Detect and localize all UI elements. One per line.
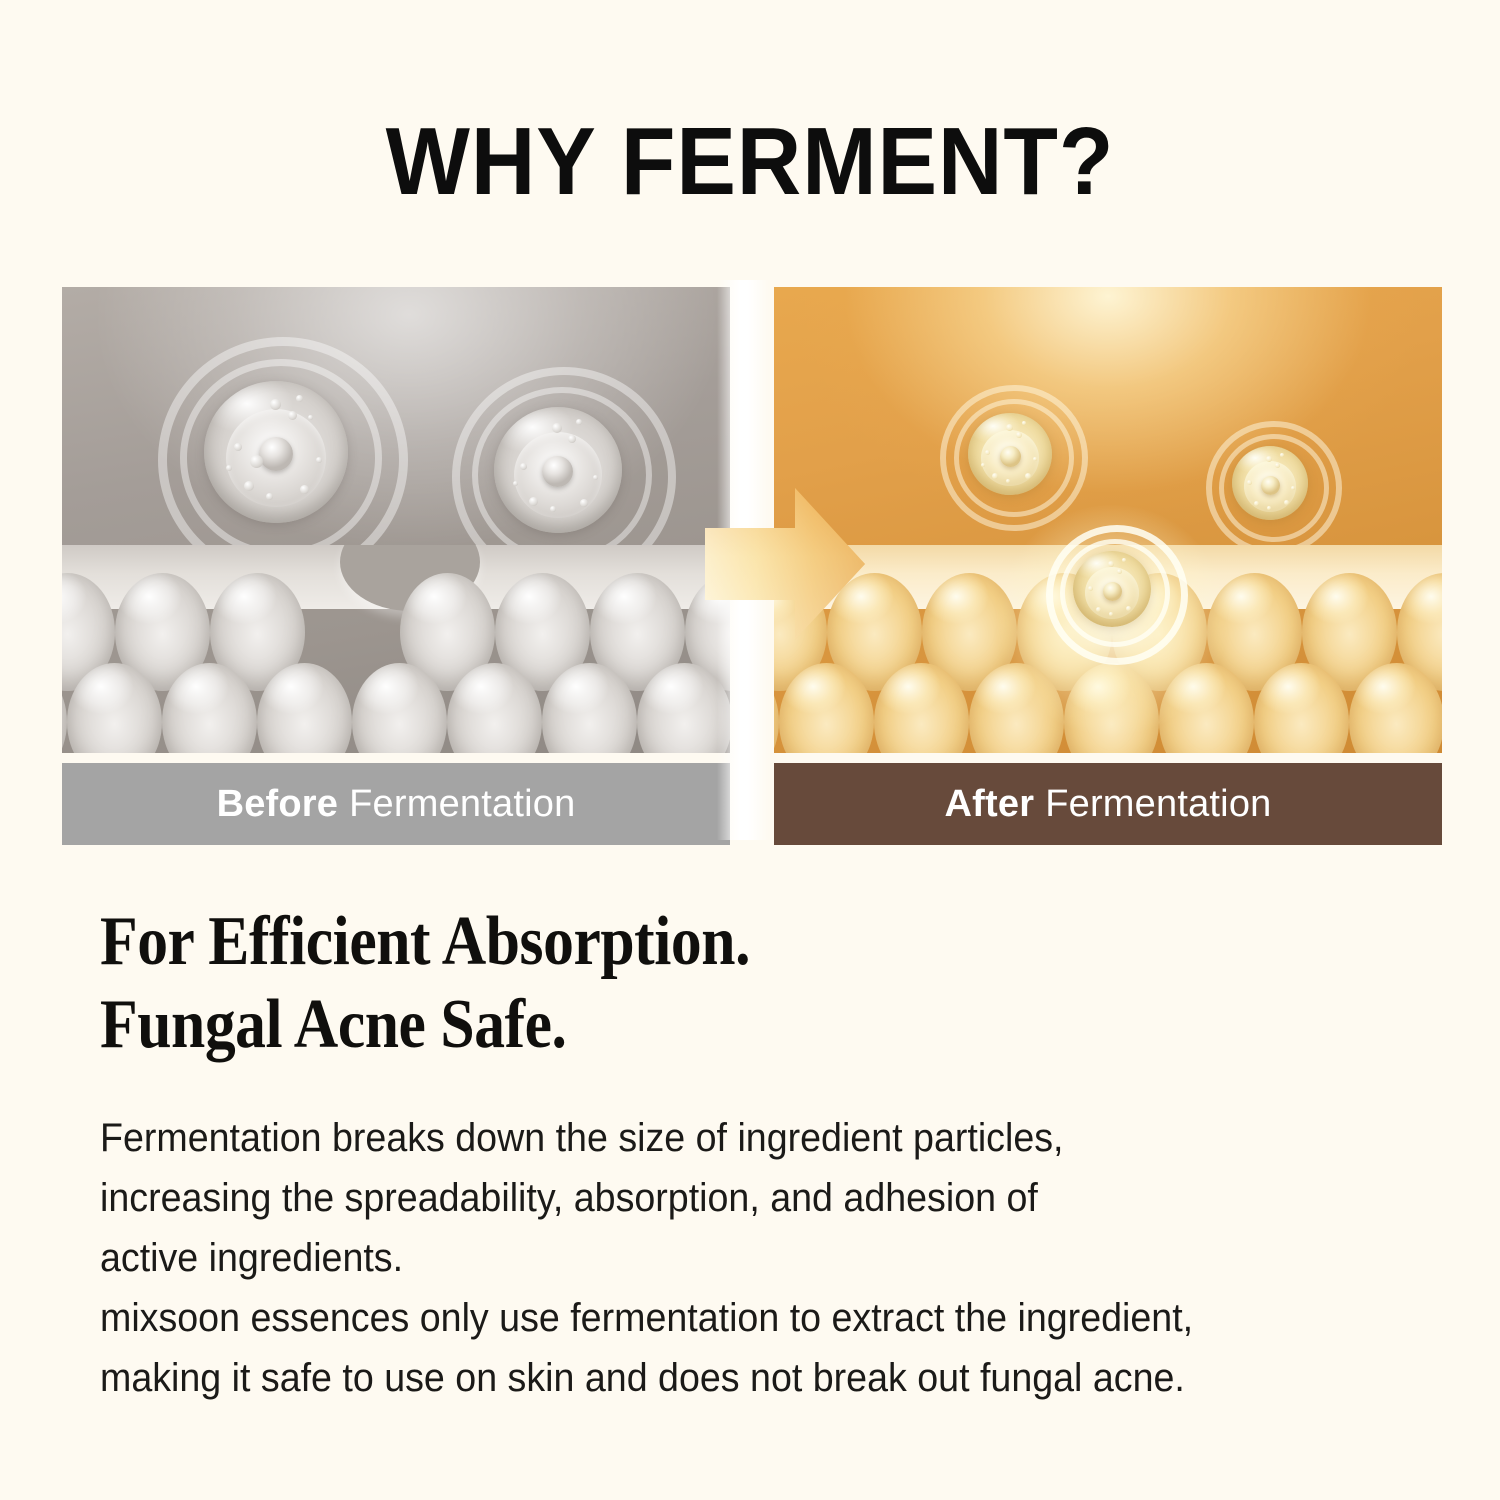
molecule-bubble: [296, 395, 303, 402]
arrow-right-icon: [699, 480, 871, 648]
molecule-bubble: [266, 493, 273, 500]
molecule-bubble: [1117, 569, 1122, 574]
molecule-bubble: [1247, 480, 1252, 485]
molecule-small-gold-1: [940, 383, 1080, 523]
molecule-bubble: [1108, 561, 1114, 567]
molecule-bubble: [985, 450, 990, 455]
molecule-bubble: [250, 455, 263, 468]
body-p2-line-1: mixsoon essences only use fermentation t…: [100, 1288, 1350, 1348]
body-p1-line-2: increasing the spreadability, absorption…: [100, 1168, 1350, 1228]
molecule-bubble: [244, 481, 254, 491]
molecule-bubble: [981, 463, 985, 467]
body-p1-line-3: active ingredients.: [100, 1228, 1350, 1288]
molecule-bubble: [1275, 463, 1280, 468]
molecule-bubble: [1291, 486, 1295, 490]
after-illustration: [774, 287, 1442, 753]
page-title: WHY FERMENT?: [53, 112, 1448, 213]
pearl-cell: [542, 663, 637, 753]
molecule-bubble: [550, 506, 556, 512]
body-p1-line-1: Fermentation breaks down the size of ing…: [100, 1108, 1350, 1168]
pearl-cell: [162, 663, 257, 753]
pearl-cell: [1349, 663, 1442, 753]
pearl-cell: [774, 663, 779, 753]
molecule-bubble: [568, 435, 576, 443]
molecule-small-gold-2: [1206, 419, 1334, 547]
pearl-cell: [1064, 663, 1159, 753]
molecule-bubble: [1280, 453, 1284, 457]
caption-after-rest: Fermentation: [1045, 783, 1271, 826]
molecule-nucleus: [259, 437, 293, 471]
section-headline: For Efficient Absorption. Fungal Acne Sa…: [100, 900, 1244, 1067]
molecule-core: [1232, 446, 1308, 520]
panel-after-fermentation: After Fermentation: [774, 287, 1442, 845]
molecule-nucleus: [1000, 446, 1021, 467]
molecule-bubble: [1109, 612, 1113, 616]
molecule-bubble: [520, 463, 527, 470]
molecule-core: [1073, 551, 1151, 627]
molecule-nucleus: [1261, 476, 1280, 495]
molecule-bubble: [593, 475, 598, 480]
molecule-bubble: [1006, 424, 1013, 431]
molecule-bubble: [552, 423, 562, 433]
pearl-cell: [969, 663, 1064, 753]
molecule-bubble: [270, 399, 281, 410]
pearl-cell: [257, 663, 352, 753]
pearl-cell: [1159, 663, 1254, 753]
pearl-cell: [352, 663, 447, 753]
molecule-bubble: [1126, 606, 1131, 611]
headline-line-2: Fungal Acne Safe.: [100, 983, 1244, 1066]
skin-layer-before: [62, 545, 730, 753]
before-after-comparison: Before Fermentation: [62, 287, 1442, 845]
molecule-bubble: [580, 499, 588, 507]
caption-after-emphasis: After: [945, 783, 1035, 826]
panel-before-fermentation: Before Fermentation: [62, 287, 730, 845]
molecule-bubble: [1284, 500, 1289, 505]
caption-before-rest: Fermentation: [349, 783, 575, 826]
molecule-core: [204, 381, 348, 523]
molecule-bubble: [288, 411, 297, 420]
headline-line-1: For Efficient Absorption.: [100, 900, 1244, 983]
molecule-bubble: [1033, 457, 1037, 461]
molecule-nucleus: [1103, 582, 1122, 601]
molecule-bubble: [234, 443, 242, 451]
pearl-cell: [874, 663, 969, 753]
molecule-bubble: [1122, 558, 1126, 562]
molecule-bubble: [1267, 506, 1271, 510]
pearl-row-bottom: [774, 663, 1442, 753]
molecule-bubble: [226, 465, 232, 471]
body-paragraph-1: Fermentation breaks down the size of ing…: [100, 1108, 1350, 1288]
body-paragraph-2: mixsoon essences only use fermentation t…: [100, 1288, 1350, 1408]
molecule-large-gray-2: [452, 363, 664, 575]
section-body-copy: Fermentation breaks down the size of ing…: [100, 1108, 1350, 1408]
pearl-cell: [1254, 663, 1349, 753]
molecule-bubble: [1025, 473, 1031, 479]
pearl-cell: [62, 663, 67, 753]
pearl-row-bottom: [62, 663, 730, 753]
molecule-bubble: [1254, 501, 1259, 506]
pearl-cell: [779, 663, 874, 753]
caption-before-emphasis: Before: [217, 783, 339, 826]
molecule-bubble: [1006, 479, 1010, 483]
molecule-large-gray-1: [158, 333, 394, 569]
molecule-nucleus: [542, 456, 573, 487]
molecule-bubble: [1022, 421, 1026, 425]
molecule-bubble: [1266, 456, 1272, 462]
molecule-core: [968, 413, 1052, 495]
molecule-bubble: [1096, 607, 1101, 612]
pearl-cell: [447, 663, 542, 753]
molecule-core: [494, 407, 622, 533]
molecule-bubble: [529, 497, 538, 506]
before-illustration: [62, 287, 730, 753]
molecule-bubble: [513, 481, 518, 486]
body-p2-line-2: making it safe to use on skin and does n…: [100, 1348, 1350, 1408]
molecule-bubble: [1016, 432, 1022, 438]
molecule-bubble: [576, 419, 582, 425]
transition-arrow: [699, 480, 871, 648]
molecule-bubble: [316, 457, 322, 463]
molecule-bubble: [1088, 586, 1093, 591]
molecule-bubble: [992, 473, 998, 479]
caption-before: Before Fermentation: [62, 763, 730, 845]
molecule-bubble: [308, 415, 313, 420]
pearl-cell: [67, 663, 162, 753]
molecule-bubble: [300, 485, 309, 494]
caption-after: After Fermentation: [774, 763, 1442, 845]
molecule-penetrating-gold-3: [1046, 523, 1178, 655]
